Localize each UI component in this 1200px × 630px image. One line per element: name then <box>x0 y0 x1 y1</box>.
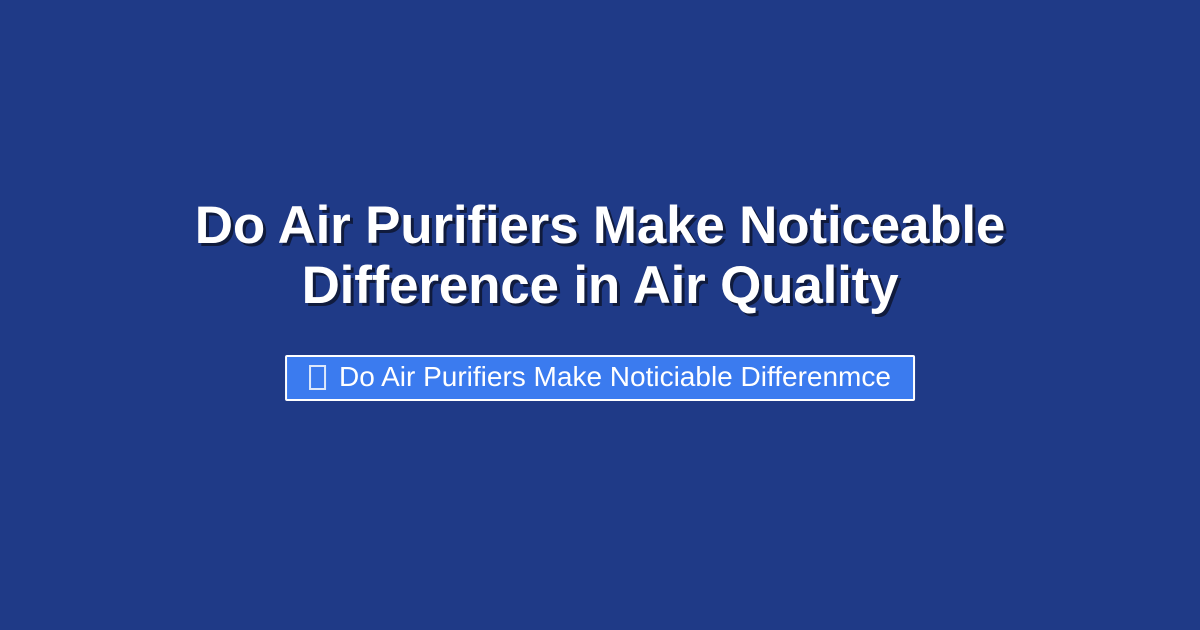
missing-glyph-box-icon <box>309 365 326 390</box>
page-title: Do Air Purifiers Make Noticeable Differe… <box>65 196 1135 316</box>
social-share-card: Do Air Purifiers Make Noticeable Differe… <box>0 0 1200 630</box>
cta-button-label: Do Air Purifiers Make Noticiable Differe… <box>339 363 891 391</box>
cta-container: Do Air Purifiers Make Noticiable Differe… <box>285 355 915 401</box>
cta-button[interactable]: Do Air Purifiers Make Noticiable Differe… <box>285 355 915 401</box>
